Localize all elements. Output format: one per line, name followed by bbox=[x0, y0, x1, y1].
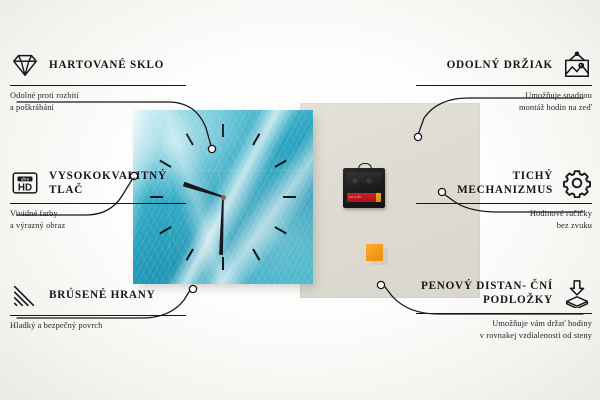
feature-title: TICHÝ MECHANIZMUS bbox=[416, 169, 553, 197]
feature-beveled-edges: BRÚSENÉ HRANY Hladký a bezpečný povrch bbox=[10, 278, 186, 332]
beveled-edges-icon bbox=[10, 280, 40, 310]
feature-foam-spacers: PENOVÝ DISTAN- ČNÍ PODLOŽKY Umožňuje vám… bbox=[416, 276, 592, 342]
feature-divider bbox=[10, 315, 186, 316]
feature-subtitle: Umožňuje snadnou montáž hodin na zeď bbox=[416, 90, 592, 114]
foam-spacer-pad bbox=[366, 244, 383, 261]
feature-subtitle: Hladký a bezpečný povrch bbox=[10, 320, 186, 332]
feature-tempered-glass: HARTOVANÉ SKLO Odolné proti rozbití a po… bbox=[10, 48, 186, 114]
ultra-hd-badge-icon: ultra HD bbox=[10, 168, 40, 198]
feature-subtitle: Hodinové ručičky bez zvuku bbox=[416, 208, 592, 232]
battery-positive-tip bbox=[376, 193, 381, 202]
feature-title: HARTOVANÉ SKLO bbox=[49, 58, 164, 72]
feature-divider bbox=[416, 203, 592, 204]
feature-subtitle: Vividné farby a výrazný obraz bbox=[10, 208, 186, 232]
feature-divider bbox=[10, 85, 186, 86]
picture-hanger-icon bbox=[562, 50, 592, 80]
feature-subtitle: Umožňuje vám držať hodiny v rovnakej vzd… bbox=[416, 318, 592, 342]
clock-hand-center-cap bbox=[221, 195, 226, 200]
battery-label: AA 1.5V bbox=[349, 195, 361, 199]
feature-silent-mechanism: TICHÝ MECHANIZMUS Hodinové ručičky bez z… bbox=[416, 166, 592, 232]
diamond-icon bbox=[10, 50, 40, 80]
gear-icon bbox=[562, 168, 592, 198]
mechanism-housing-detail bbox=[347, 172, 381, 190]
feature-divider bbox=[416, 313, 592, 314]
hour-tick bbox=[222, 257, 224, 270]
hour-tick bbox=[222, 124, 224, 137]
svg-text:HD: HD bbox=[18, 183, 32, 194]
product-feature-infographic: AA 1.5V bbox=[0, 0, 600, 400]
svg-text:ultra: ultra bbox=[21, 176, 30, 181]
feature-title: PENOVÝ DISTAN- ČNÍ PODLOŽKY bbox=[416, 279, 553, 307]
feature-title: BRÚSENÉ HRANY bbox=[49, 288, 155, 302]
battery: AA 1.5V bbox=[347, 193, 381, 202]
hour-tick bbox=[283, 196, 296, 198]
foam-spacer-icon bbox=[562, 278, 592, 308]
feature-title: ODOLNÝ DRŽIAK bbox=[447, 58, 553, 72]
feature-durable-hanger: ODOLNÝ DRŽIAK Umožňuje snadnou montáž ho… bbox=[416, 48, 592, 114]
clock-movement-mechanism: AA 1.5V bbox=[343, 168, 385, 208]
feature-title: VYSOKOKVALITNÝ TLAČ bbox=[49, 169, 186, 197]
feature-divider bbox=[10, 203, 186, 204]
feature-divider bbox=[416, 85, 592, 86]
feature-high-quality-print: ultra HD VYSOKOKVALITNÝ TLAČ Vividné far… bbox=[10, 166, 186, 232]
feature-subtitle: Odolné proti rozbití a poškrábání bbox=[10, 90, 186, 114]
mechanism-hanger-hook bbox=[358, 163, 372, 171]
